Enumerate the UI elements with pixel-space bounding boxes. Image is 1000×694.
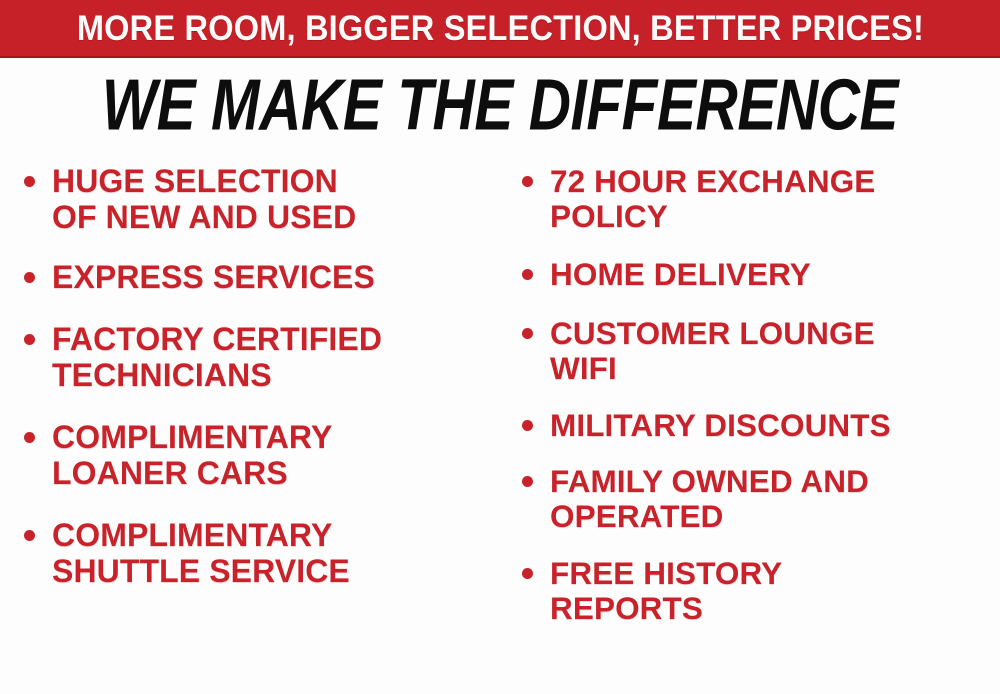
banner-headline-text: MORE ROOM, BIGGER SELECTION, BETTER PRIC… bbox=[76, 11, 923, 46]
dot-bullet-icon bbox=[522, 176, 533, 187]
list-item: FACTORY CERTIFIED TECHNICIANS bbox=[18, 322, 500, 394]
list-item-label: HOME DELIVERY bbox=[550, 257, 1000, 292]
benefits-columns: HUGE SELECTION OF NEW AND USED EXPRESS S… bbox=[0, 156, 1000, 694]
list-item: FAMILY OWNED AND OPERATED bbox=[516, 464, 1000, 535]
benefits-column-left: HUGE SELECTION OF NEW AND USED EXPRESS S… bbox=[0, 156, 500, 694]
list-item: FREE HISTORY REPORTS bbox=[516, 556, 1000, 627]
list-item: COMPLIMENTARY LOANER CARS bbox=[18, 420, 500, 492]
dot-bullet-icon bbox=[522, 476, 533, 487]
list-item-label: EXPRESS SERVICES bbox=[52, 260, 500, 296]
list-item-label: CUSTOMER LOUNGE WIFI bbox=[550, 316, 1000, 387]
dot-bullet-icon bbox=[24, 432, 35, 443]
list-item: COMPLIMENTARY SHUTTLE SERVICE bbox=[18, 518, 500, 590]
page-title: WE MAKE THE DIFFERENCE bbox=[102, 69, 898, 141]
list-item: EXPRESS SERVICES bbox=[18, 260, 500, 296]
list-item: HOME DELIVERY bbox=[516, 257, 1000, 292]
list-item-label: COMPLIMENTARY SHUTTLE SERVICE bbox=[52, 518, 500, 590]
list-item-label: FAMILY OWNED AND OPERATED bbox=[550, 464, 1000, 535]
list-item: 72 HOUR EXCHANGE POLICY bbox=[516, 164, 1000, 235]
benefits-column-right: 72 HOUR EXCHANGE POLICY HOME DELIVERY CU… bbox=[500, 156, 1000, 694]
list-item: MILITARY DISCOUNTS bbox=[516, 408, 1000, 443]
list-item-label: FACTORY CERTIFIED TECHNICIANS bbox=[52, 322, 500, 394]
dot-bullet-icon bbox=[24, 334, 35, 345]
top-banner: MORE ROOM, BIGGER SELECTION, BETTER PRIC… bbox=[0, 0, 1000, 58]
dot-bullet-icon bbox=[24, 530, 35, 541]
list-item: CUSTOMER LOUNGE WIFI bbox=[516, 316, 1000, 387]
list-item-label: COMPLIMENTARY LOANER CARS bbox=[52, 420, 500, 492]
list-item-label: 72 HOUR EXCHANGE POLICY bbox=[550, 164, 1000, 235]
dot-bullet-icon bbox=[522, 568, 533, 579]
dot-bullet-icon bbox=[522, 269, 533, 280]
list-item-label: FREE HISTORY REPORTS bbox=[550, 556, 1000, 627]
main-headline-container: WE MAKE THE DIFFERENCE bbox=[0, 62, 1000, 148]
dot-bullet-icon bbox=[24, 176, 35, 187]
advertisement-poster: MORE ROOM, BIGGER SELECTION, BETTER PRIC… bbox=[0, 0, 1000, 694]
dot-bullet-icon bbox=[522, 420, 533, 431]
dot-bullet-icon bbox=[24, 272, 35, 283]
list-item: HUGE SELECTION OF NEW AND USED bbox=[18, 164, 500, 236]
list-item-label: MILITARY DISCOUNTS bbox=[550, 408, 1000, 443]
list-item-label: HUGE SELECTION OF NEW AND USED bbox=[52, 164, 500, 236]
dot-bullet-icon bbox=[522, 328, 533, 339]
